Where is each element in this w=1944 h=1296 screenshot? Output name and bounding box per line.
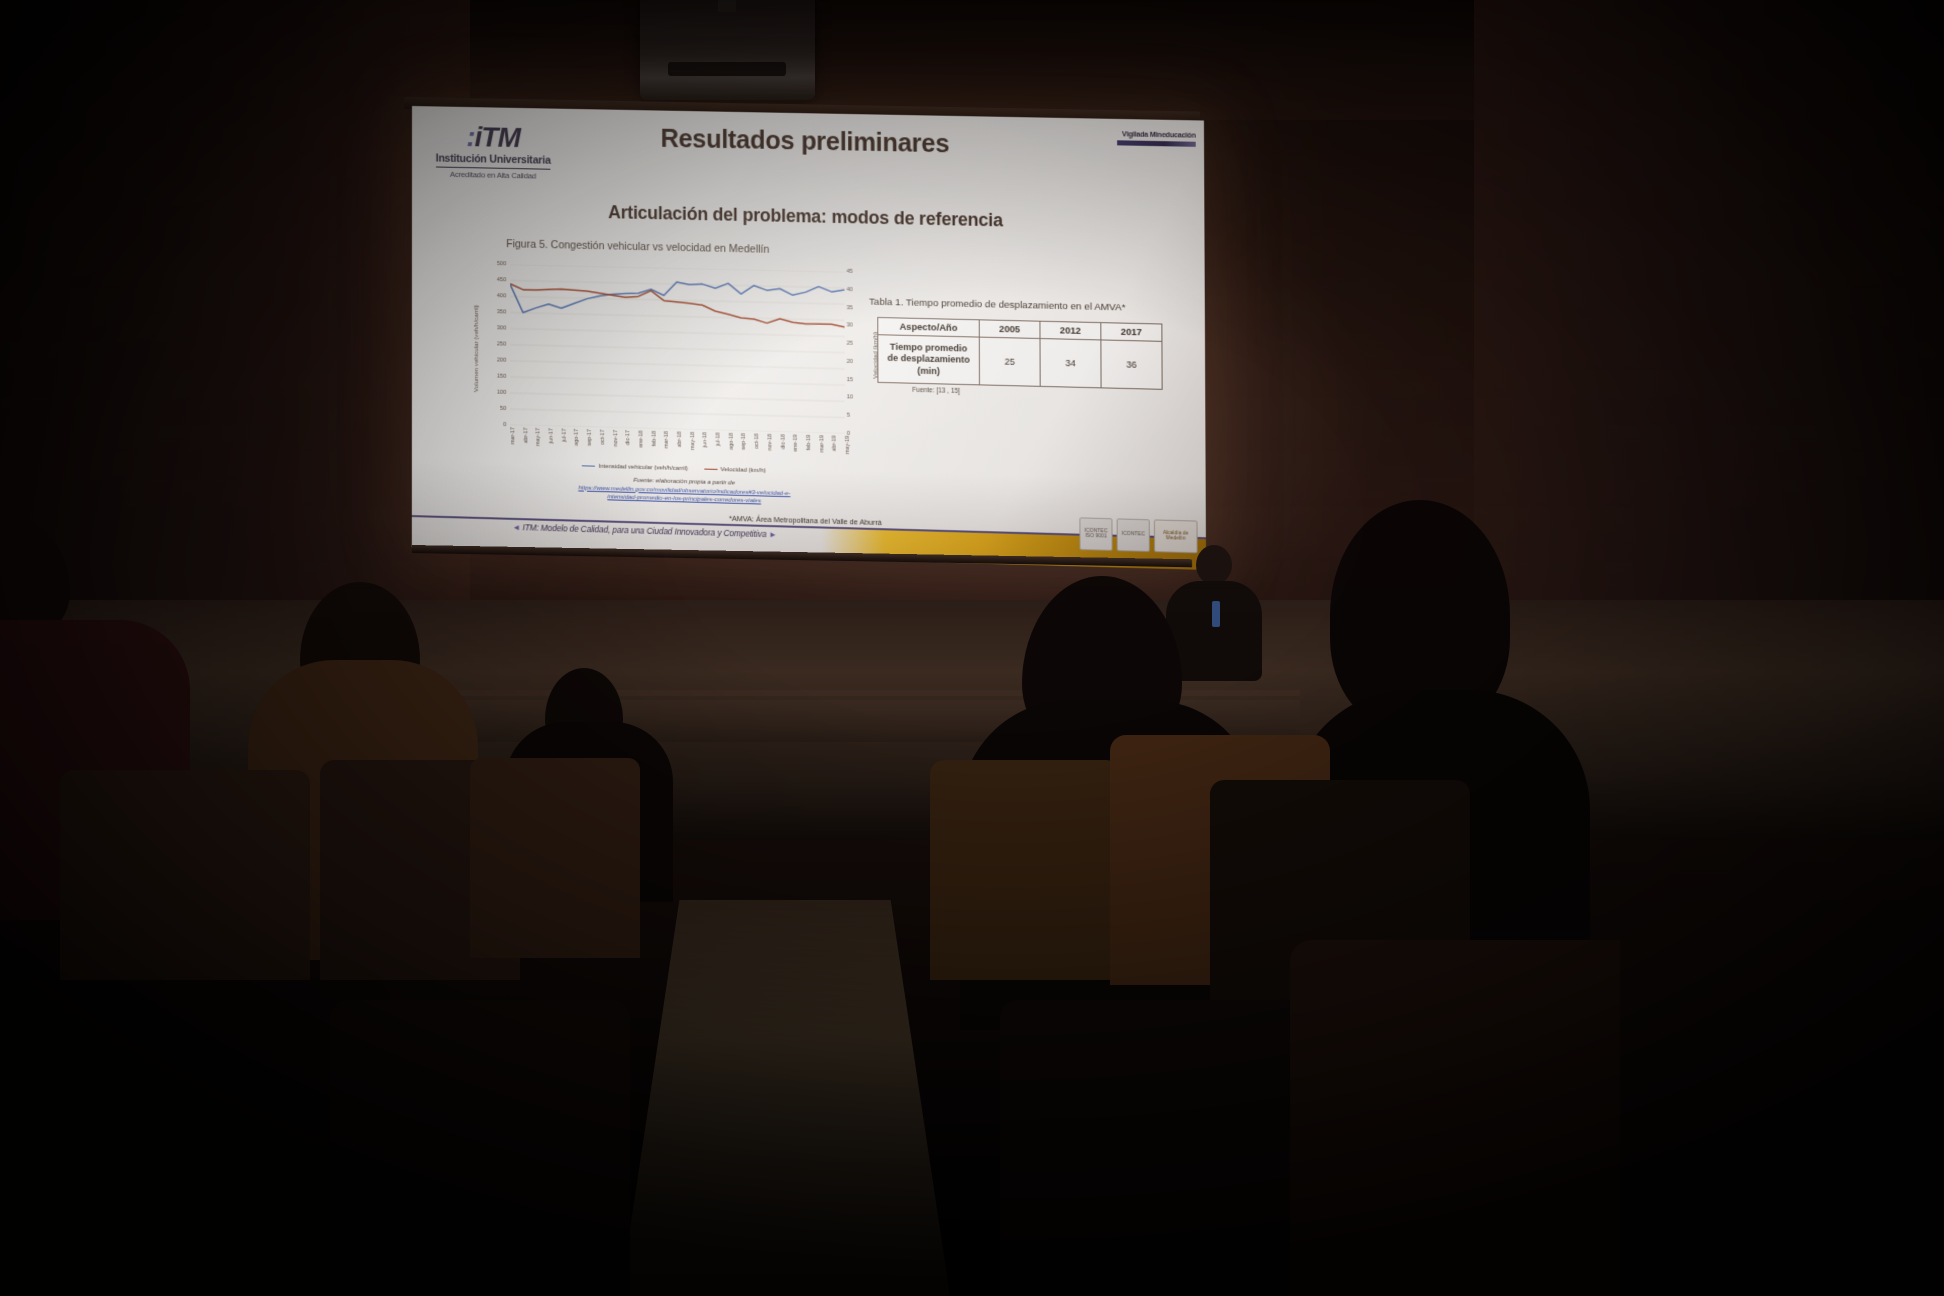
axis-tick-label: 350 [497,309,506,315]
table-header-2005: 2005 [979,320,1040,339]
axis-tick-label: 400 [497,293,506,299]
gridline [510,409,845,417]
itm-logo-institution: Institución Universitaria [430,152,556,167]
x-axis-tick-label: mar-17 [510,427,516,444]
presenter-head [1196,545,1232,585]
gridline [510,296,844,304]
x-axis-tick-label: may-19 [845,436,851,454]
x-axis-tick-label: ene-19 [793,434,799,451]
x-axis-tick-label: dic-17 [625,430,631,445]
figure-source-prefix: Fuente: elaboración propia a partir de [633,478,735,487]
table-source: Fuente: [13 , 15] [912,387,960,395]
balcony-rail [440,690,1300,696]
axis-tick-label: 35 [847,305,853,311]
seal-icontec-iso: ICONTEC ISO 9001 [1079,517,1112,551]
y-axis-left-label: Volumen vehicular (veh/h/carril) [470,273,482,424]
legend-label: Velocidad (km/h) [720,467,765,474]
x-axis-tick-label: oct-17 [600,429,606,444]
y-axis-right-ticks: 051015202530354045 [846,272,869,435]
figure-5-chart: Volumen vehicular (veh/h/carril) Velocid… [472,255,878,463]
x-axis-tick-label: abr-19 [832,435,838,451]
itm-logo-accreditation: Acreditado en Alta Calidad [430,169,556,181]
x-axis-tick-label: feb-18 [651,431,657,447]
x-axis-tick-label: abr-18 [677,431,683,447]
axis-tick-label: 10 [847,395,853,401]
presenter-body [1166,581,1262,681]
axis-tick-label: 200 [497,357,506,363]
axis-tick-label: 450 [497,277,506,283]
legend-swatch-icon [704,468,717,469]
gridline [510,280,844,287]
legend-swatch-icon [582,465,595,466]
chart-plot-area [510,264,845,433]
axis-tick-label: 150 [497,374,506,380]
seal-icontec: ICONTEC [1117,518,1150,552]
axis-tick-label: 50 [500,406,506,412]
projector-mount [718,0,736,12]
series-line-2 [510,284,844,327]
x-axis-tick-label: dic-18 [780,434,786,449]
table-caption: Tabla 1. Tiempo promedio de desplazamien… [869,297,1125,314]
x-axis-tick-label: feb-19 [806,435,812,451]
axis-tick-label: 20 [847,359,853,365]
x-axis-tick-label: abr-17 [523,427,529,443]
axis-tick-label: 0 [503,422,506,428]
screenshot-stage: :iTM Institución Universitaria Acreditad… [0,0,1944,1296]
ceiling-projector [640,0,815,100]
x-axis-tick-label: nov-18 [767,434,773,451]
gridline [510,377,844,385]
table-row: Tiempo promedio de desplazamiento (min) … [878,335,1162,389]
figure-caption: Figura 5. Congestión vehicular vs veloci… [506,238,769,256]
axis-tick-label: 500 [497,261,506,267]
x-axis-tick-label: mar-18 [664,431,670,448]
table-cell-2017: 36 [1101,340,1162,389]
x-axis-tick-label: nov-17 [613,430,619,447]
projector-lens [668,62,786,76]
figure-source-link-line2[interactable]: intensidad-promedio-en-los-principales-c… [607,495,761,505]
axis-tick-label: 40 [847,287,853,293]
seat-11 [1620,900,1944,1296]
axis-tick-label: 5 [847,413,850,419]
chart-svg [510,264,845,433]
x-axis-tick-label: ene-18 [638,430,644,447]
gridline [510,313,844,321]
axis-tick-label: 250 [497,341,506,347]
seat-4 [930,760,1120,980]
footer-diamond-right-icon: ► [769,530,777,539]
axis-tick-label: 45 [846,269,852,275]
axis-tick-label: 100 [497,390,506,396]
slide-subtitle: Articulación del problema: modos de refe… [412,198,1205,236]
seat-1 [60,770,310,980]
row-header-line-2: de desplazamiento [887,353,970,365]
x-axis-tick-label: jun-17 [549,428,555,443]
table-cell-2005: 25 [979,337,1040,386]
axis-tick-label: 300 [497,325,506,331]
x-axis-tick-label: may-17 [536,428,542,446]
y-axis-left-ticks: 050100150200250300350400450500 [484,264,506,425]
x-axis-tick-label: sep-17 [587,429,593,446]
axis-tick-label: 15 [847,377,853,383]
footer-diamond-left-icon: ◄ [512,523,520,532]
x-axis-tick-label: mar-19 [819,435,825,452]
seat-8 [330,1000,630,1296]
tabla-1: Aspecto/Año 2005 2012 2017 Tiempo promed… [877,317,1162,390]
projection-screen: :iTM Institución Universitaria Acreditad… [412,106,1206,570]
x-axis-tick-label: jul-18 [716,432,722,445]
x-axis-tick-label: oct-18 [754,433,760,448]
x-axis-tick-label: jul-17 [561,428,567,441]
gridline [510,345,844,353]
x-axis-tick-label: may-18 [690,432,696,450]
seat-3 [470,758,640,958]
x-axis-tick-label: ago-18 [728,433,734,450]
footer-text: ITM: Modelo de Calidad, para una Ciudad … [523,523,767,539]
presenter [1160,545,1270,675]
x-axis-tick-label: ago-17 [574,429,580,446]
gridline [510,329,844,337]
table-header-2017: 2017 [1101,323,1162,342]
row-header-line-3: (min) [917,365,940,376]
x-axis-tick-label: sep-18 [741,433,747,450]
axis-tick-label: 25 [847,341,853,347]
table-cell-2012: 34 [1040,339,1101,388]
gridline [510,264,844,271]
gridline [510,393,845,401]
table-header-2012: 2012 [1040,321,1101,340]
row-header-line-1: Tiempo promedio [890,342,967,354]
table-row-header: Tiempo promedio de desplazamiento (min) [878,335,980,385]
presenter-lanyard [1212,601,1220,627]
gridline [510,361,844,369]
axis-tick-label: 30 [847,323,853,329]
presentation-slide: :iTM Institución Universitaria Acreditad… [412,106,1206,570]
x-axis-tick-label: jun-18 [703,432,709,447]
